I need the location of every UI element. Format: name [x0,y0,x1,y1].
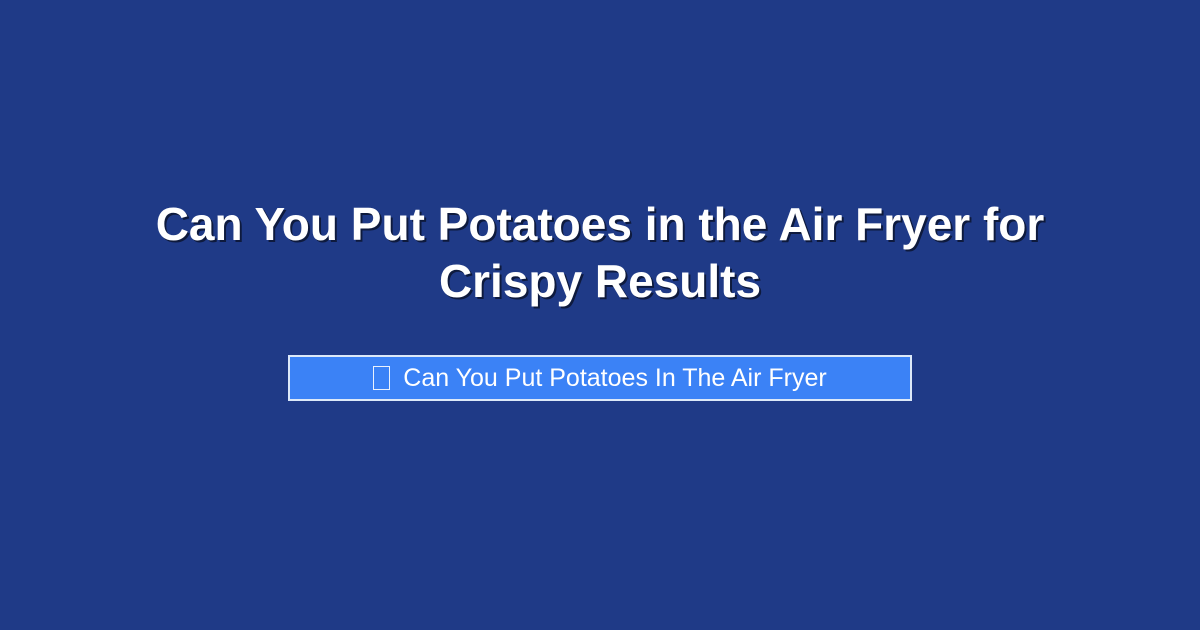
social-share-card: Can You Put Potatoes in the Air Fryer fo… [0,0,1200,630]
cta-button-label: Can You Put Potatoes In The Air Fryer [403,363,826,393]
cta-button[interactable]: Can You Put Potatoes In The Air Fryer [288,355,912,401]
page-title: Can You Put Potatoes in the Air Fryer fo… [0,196,1200,310]
missing-glyph-box-icon [373,366,390,390]
